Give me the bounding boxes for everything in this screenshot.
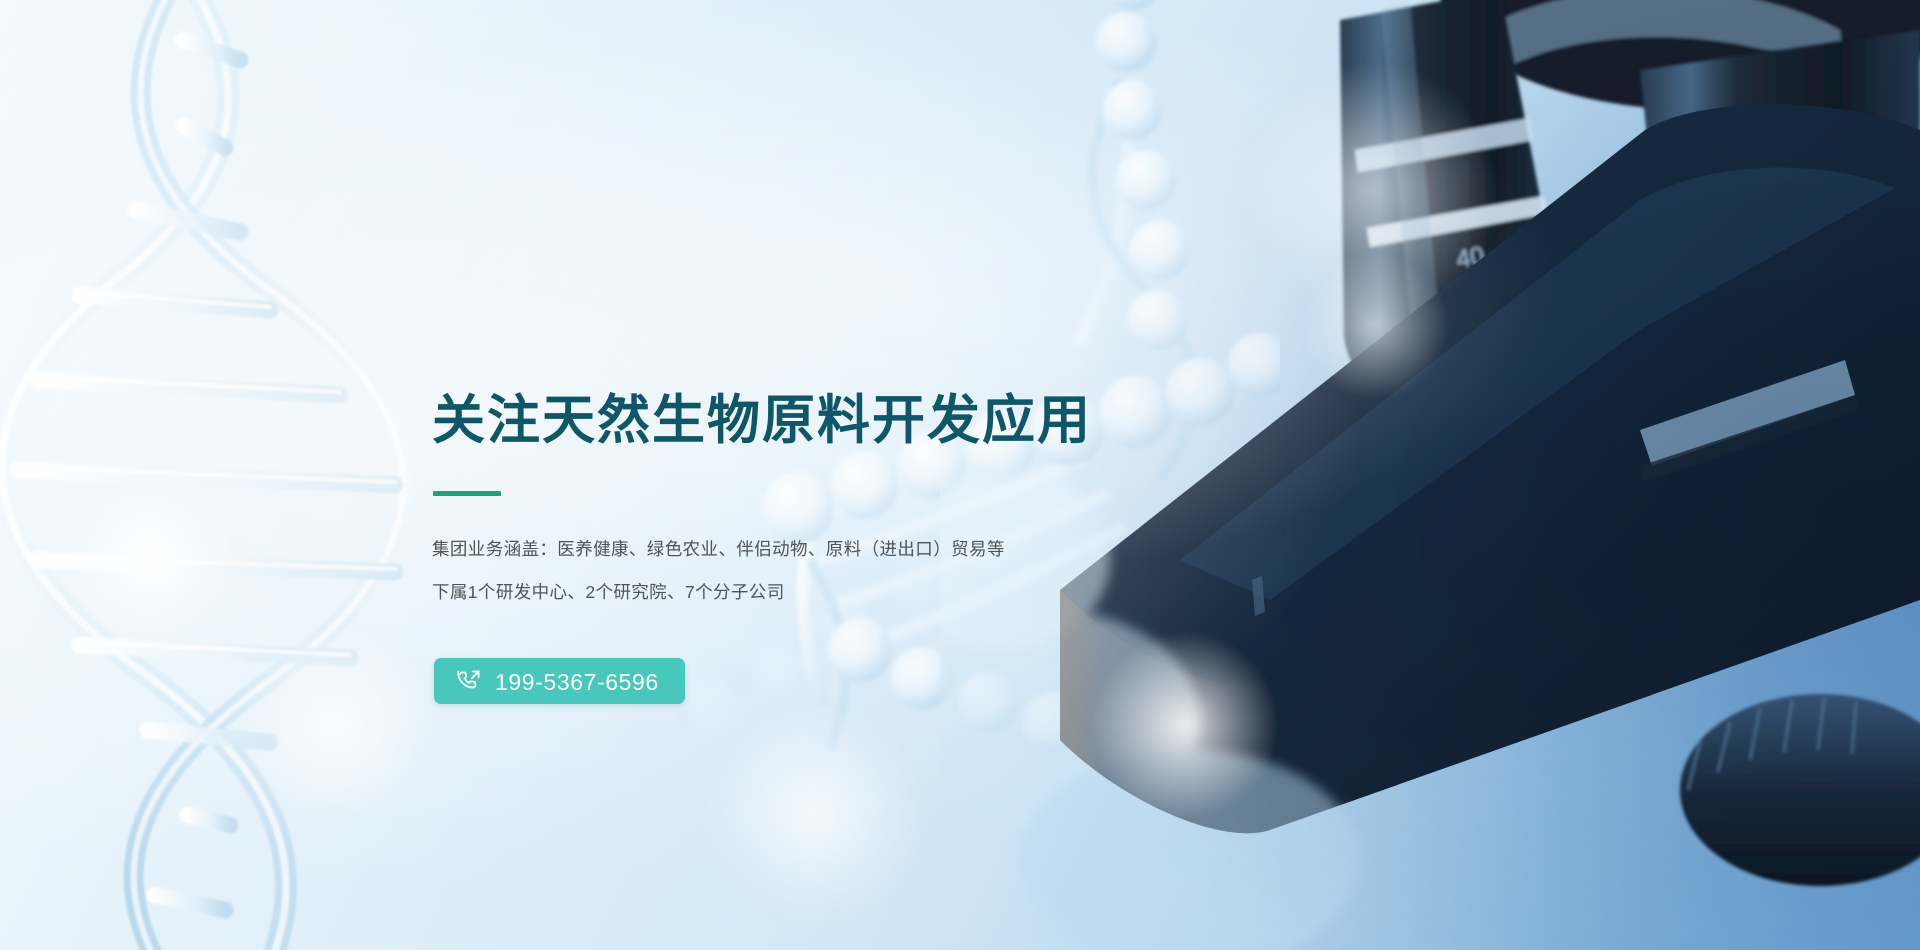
bokeh-light <box>1240 60 1500 320</box>
page-title: 关注天然生物原料开发应用 <box>432 392 1252 449</box>
title-divider <box>433 491 501 496</box>
subtitle-line-1: 集团业务涵盖：医养健康、绿色农业、伴侣动物、原料（进出口）贸易等 <box>432 528 1252 571</box>
svg-text:100/1.25: 100/1.25 <box>1677 125 1814 183</box>
bokeh-light <box>230 620 440 830</box>
svg-text:160/0.17: 160/0.17 <box>1698 183 1811 231</box>
bokeh-light <box>700 700 930 930</box>
bokeh-light <box>1300 250 1450 400</box>
phone-cta-label: 199-5367-6596 <box>495 671 659 694</box>
subtitle-line-2: 下属1个研发中心、2个研究院、7个分子公司 <box>432 571 1252 614</box>
subtitle-block: 集团业务涵盖：医养健康、绿色农业、伴侣动物、原料（进出口）贸易等 下属1个研发中… <box>432 528 1252 614</box>
phone-outgoing-icon <box>456 668 482 694</box>
svg-text:40: 40 <box>1454 242 1486 274</box>
hero-copy-block: 关注天然生物原料开发应用 集团业务涵盖：医养健康、绿色农业、伴侣动物、原料（进出… <box>432 392 1252 704</box>
phone-cta-button[interactable]: 199-5367-6596 <box>434 658 685 704</box>
hero-banner: 40 100/1.25 160/0.17 100 <box>0 0 1920 950</box>
svg-text:100: 100 <box>1706 320 1754 356</box>
bokeh-light <box>60 470 240 650</box>
